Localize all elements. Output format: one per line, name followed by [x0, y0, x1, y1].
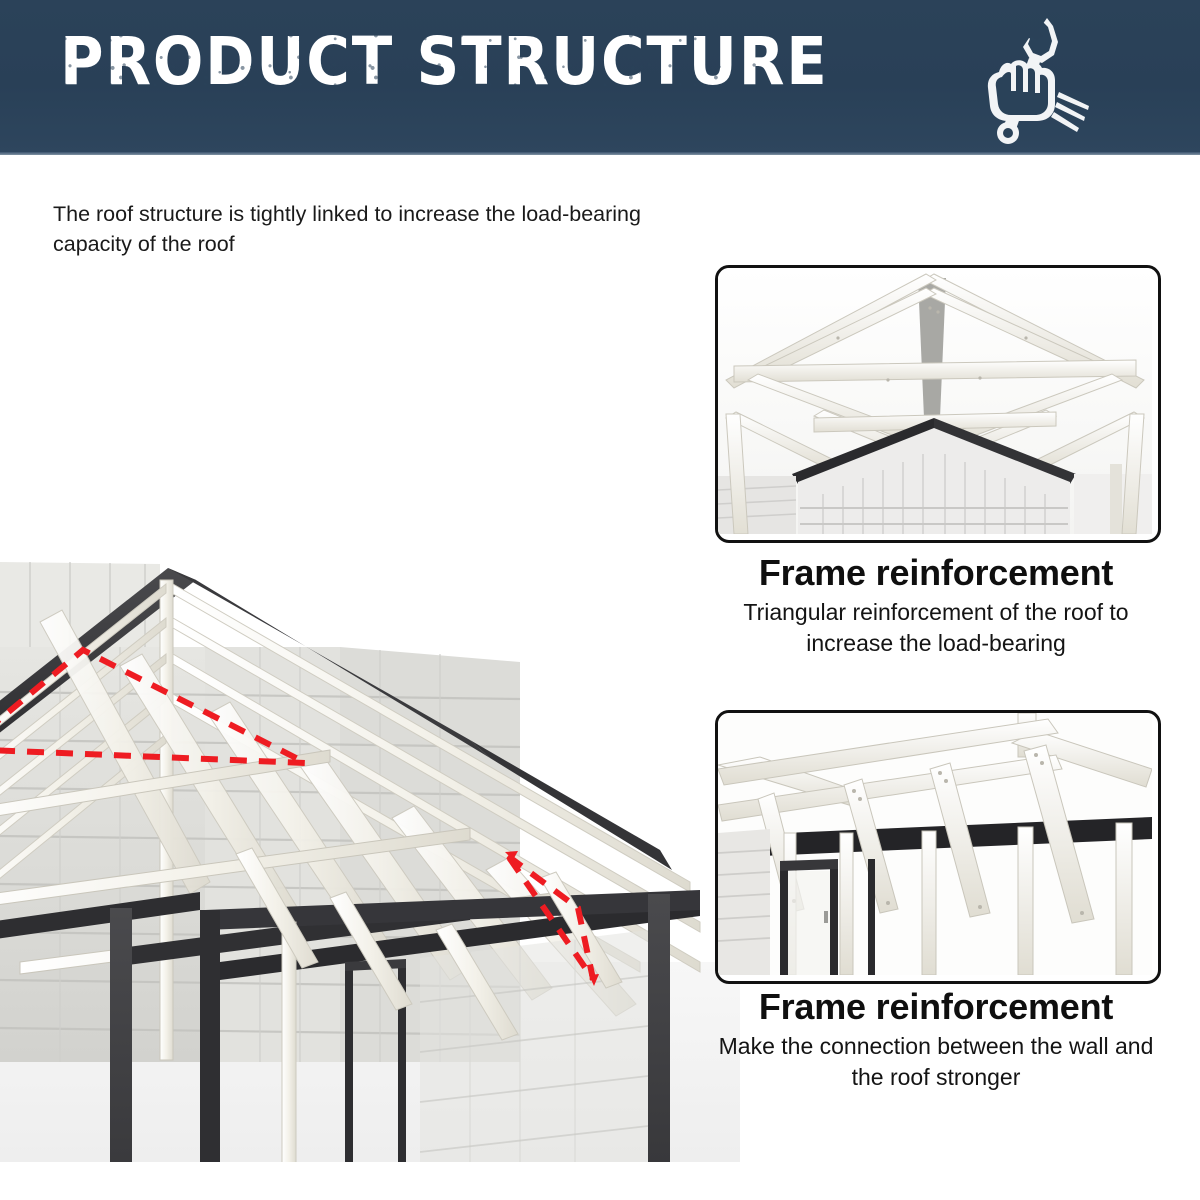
product-structure-infographic: PRODUCT STRUCTURE The roof [0, 0, 1200, 1200]
frame-reinforcement-card-2 [715, 710, 1161, 984]
knee-brace-connection-photo [718, 713, 1152, 975]
card-1-subtitle: Triangular reinforcement of the roof to … [706, 597, 1166, 659]
page-title: PRODUCT STRUCTURE [60, 29, 829, 95]
frame-reinforcement-card-1 [715, 265, 1161, 543]
hand-holding-wrench-icon [985, 14, 1095, 144]
gable-roof-truss-photo [718, 268, 1152, 534]
card-1-title: Frame reinforcement [706, 551, 1166, 595]
hero-image [0, 262, 740, 1162]
card-2-caption: Frame reinforcement Make the connection … [706, 985, 1166, 1093]
wall-post-right [648, 894, 670, 1162]
wall-post-left [110, 908, 132, 1162]
card-1-caption: Frame reinforcement Triangular reinforce… [706, 551, 1166, 659]
card-2-subtitle: Make the connection between the wall and… [706, 1031, 1166, 1093]
intro-text: The roof structure is tightly linked to … [53, 199, 653, 259]
card-2-title: Frame reinforcement [706, 985, 1166, 1029]
wall-post-mid [200, 910, 220, 1162]
header-banner: PRODUCT STRUCTURE [0, 0, 1200, 155]
